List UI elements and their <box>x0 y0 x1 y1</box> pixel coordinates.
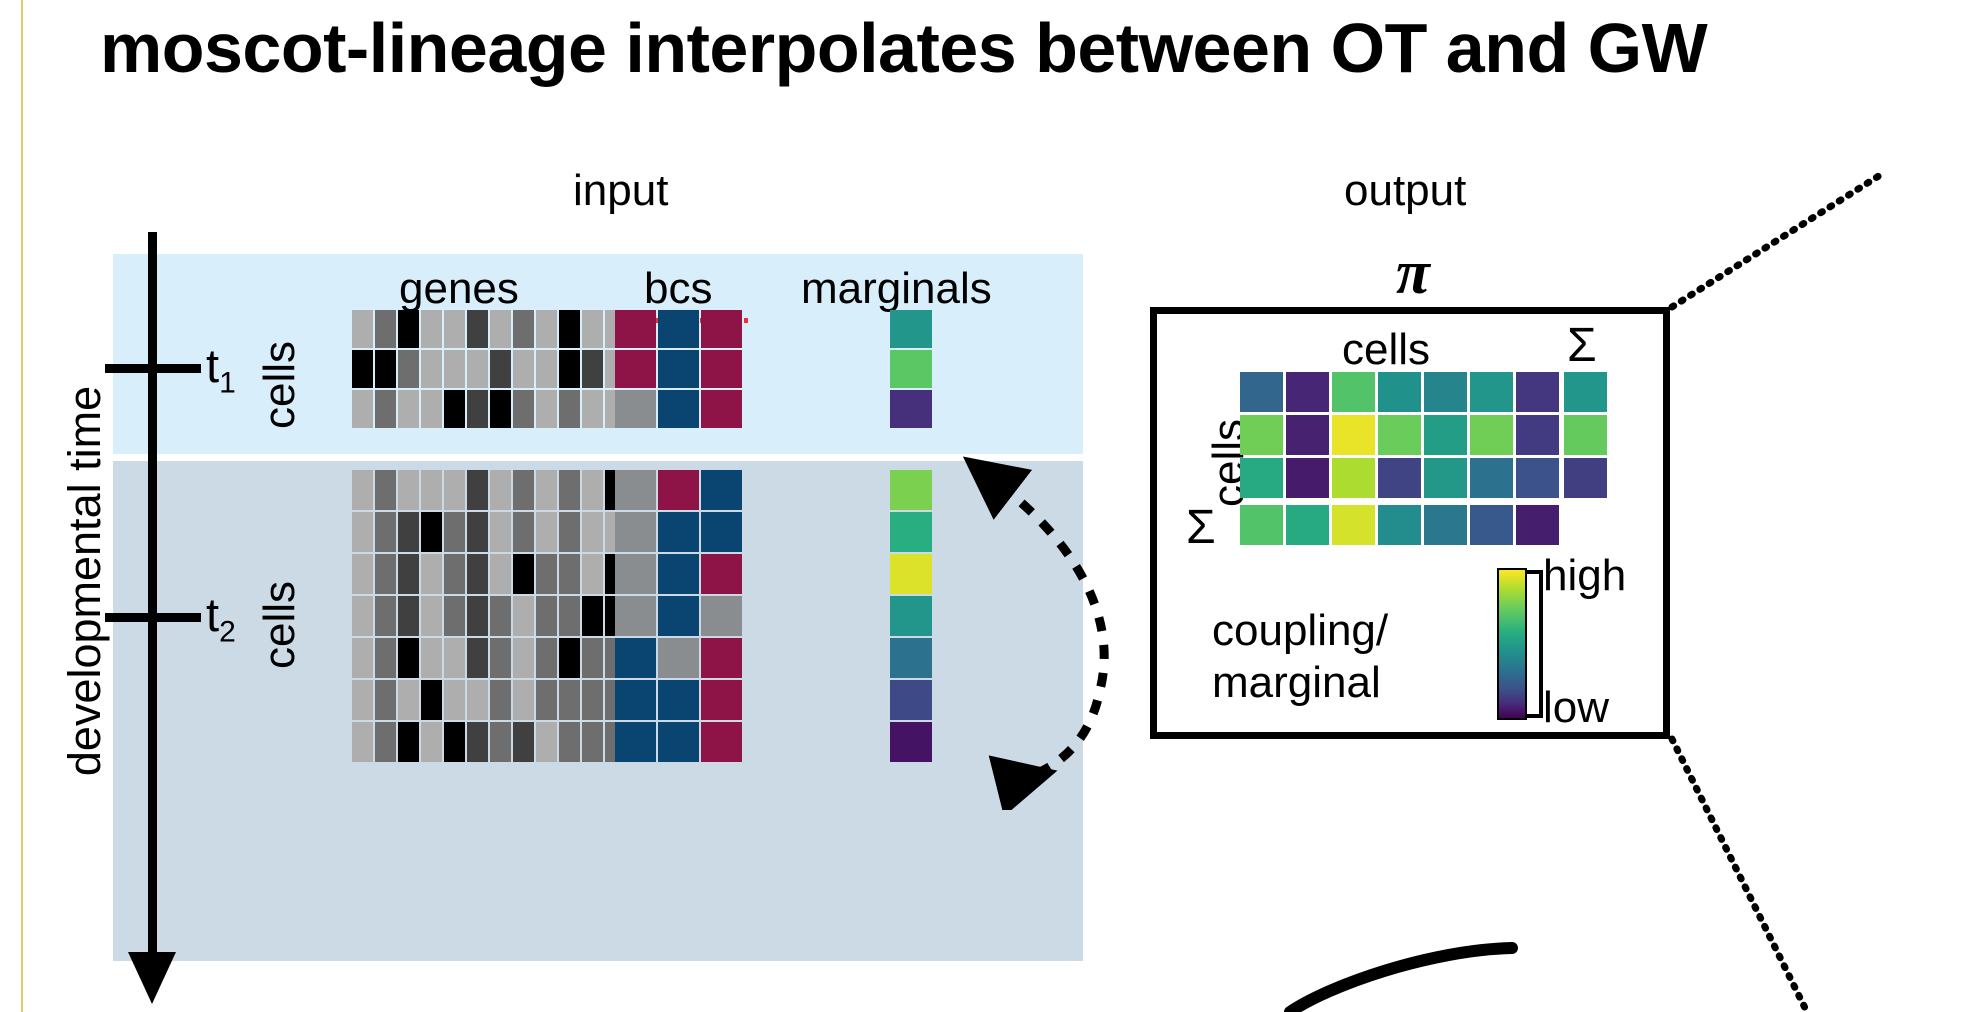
heatmap-cell <box>352 310 373 348</box>
heatmap-cell <box>1240 458 1283 498</box>
heatmap-cell <box>559 554 580 594</box>
heatmap-cell <box>615 722 656 762</box>
column-header-genes: genes <box>399 264 519 314</box>
heatmap-cell <box>890 596 932 636</box>
heatmap-cell <box>1424 372 1467 412</box>
heatmap-pi-row-sum <box>1240 505 1559 545</box>
heatmap-cell <box>375 390 396 428</box>
heatmap-cell <box>890 512 932 552</box>
heatmap-cell <box>398 554 419 594</box>
heatmap-cell <box>658 596 699 636</box>
colorbar-label-high: high <box>1543 551 1626 601</box>
heatmap-cell <box>398 680 419 720</box>
heatmap-cell <box>490 512 511 552</box>
heatmap-cell <box>1332 458 1375 498</box>
heatmap-cell <box>890 310 932 348</box>
axis-tick-label-t1: t1 <box>206 338 236 400</box>
heatmap-cell <box>1564 415 1607 455</box>
heatmap-cell <box>467 512 488 552</box>
heatmap-cell <box>490 554 511 594</box>
heatmap-cell <box>615 596 656 636</box>
heatmap-cell <box>1378 415 1421 455</box>
dotted-line-top-right <box>1672 172 1885 307</box>
heatmap-cell <box>582 554 603 594</box>
heatmap-cell <box>536 390 557 428</box>
heatmap-cell <box>890 554 932 594</box>
heatmap-cell <box>1470 458 1513 498</box>
heatmap-cell <box>890 350 932 388</box>
heatmap-cell <box>582 470 603 510</box>
heatmap-cell <box>467 350 488 388</box>
heatmap-cell <box>559 638 580 678</box>
heatmap-cell <box>375 638 396 678</box>
heatmap-cell <box>559 596 580 636</box>
heatmap-cell <box>615 554 656 594</box>
heatmap-cell <box>1378 372 1421 412</box>
heatmap-cell <box>513 680 534 720</box>
heatmap-cell <box>1286 458 1329 498</box>
heatmap-cell <box>398 310 419 348</box>
heatmap-cell <box>1378 505 1421 545</box>
heatmap-cell <box>421 722 442 762</box>
heatmap-cell <box>1424 505 1467 545</box>
heatmap-cell <box>1332 505 1375 545</box>
heatmap-cell <box>890 638 932 678</box>
column-header-marginals: marginals <box>801 264 992 314</box>
pi-column-header-sigma: Σ <box>1567 318 1597 373</box>
heatmap-cell <box>490 638 511 678</box>
heatmap-bcs-t2 <box>615 470 742 762</box>
heatmap-cell <box>1286 372 1329 412</box>
heatmap-cell <box>615 390 656 428</box>
heatmap-cell <box>1240 415 1283 455</box>
heatmap-cell <box>658 310 699 348</box>
heatmap-cell <box>615 470 656 510</box>
heatmap-cell <box>890 470 932 510</box>
viridis-colorbar <box>1497 568 1527 720</box>
heatmap-cell <box>398 350 419 388</box>
heatmap-pi-coupling <box>1240 372 1559 498</box>
figure-canvas: moscot-lineage interpolates between OT a… <box>0 0 1969 1012</box>
heatmap-cell <box>536 350 557 388</box>
bottom-curve <box>1290 948 1512 1012</box>
legend-line-1: coupling/ <box>1212 606 1388 655</box>
heatmap-pi-column-sum <box>1564 372 1607 498</box>
heatmap-cell <box>398 722 419 762</box>
heatmap-cell <box>559 390 580 428</box>
heatmap-cell <box>444 512 465 552</box>
heatmap-cell <box>421 554 442 594</box>
heatmap-cell <box>513 350 534 388</box>
heatmap-cell <box>513 470 534 510</box>
heatmap-cell <box>444 310 465 348</box>
time-axis-arrowhead-icon <box>128 952 176 1004</box>
heatmap-cell <box>352 722 373 762</box>
heatmap-cell <box>467 390 488 428</box>
heatmap-cell <box>701 390 742 428</box>
heatmap-cell <box>615 310 656 348</box>
heatmap-genes-t1 <box>352 310 626 428</box>
axis-tick-t1 <box>105 364 201 373</box>
legend-line-2: marginal <box>1212 658 1381 707</box>
heatmap-cell <box>1516 505 1559 545</box>
developmental-time-axis-label: developmental time <box>59 351 111 811</box>
heatmap-cell <box>701 638 742 678</box>
heatmap-cell <box>352 350 373 388</box>
heatmap-cell <box>615 638 656 678</box>
heatmap-cell <box>352 470 373 510</box>
heatmap-cell <box>352 512 373 552</box>
heatmap-cell <box>490 470 511 510</box>
heatmap-cell <box>701 680 742 720</box>
heatmap-cell <box>467 596 488 636</box>
heatmap-cell <box>398 512 419 552</box>
heatmap-cell <box>701 554 742 594</box>
heatmap-cell <box>444 390 465 428</box>
heatmap-marginals-t2 <box>890 470 932 762</box>
page-edge-rule <box>21 0 23 1012</box>
colorbar-label-low: low <box>1543 683 1609 733</box>
heatmap-cell <box>1516 458 1559 498</box>
heatmap-cell <box>421 596 442 636</box>
heatmap-cell <box>536 680 557 720</box>
heatmap-cell <box>513 722 534 762</box>
heatmap-cell <box>890 390 932 428</box>
heatmap-cell <box>398 638 419 678</box>
heatmap-cell <box>352 638 373 678</box>
heatmap-cell <box>559 310 580 348</box>
heatmap-cell <box>398 390 419 428</box>
axis-tick-t2 <box>105 613 201 622</box>
heatmap-cell <box>658 350 699 388</box>
heatmap-cell <box>1564 372 1607 412</box>
heatmap-cell <box>421 470 442 510</box>
heatmap-cell <box>701 512 742 552</box>
heatmap-cell <box>513 390 534 428</box>
heatmap-cell <box>421 638 442 678</box>
heatmap-cell <box>658 470 699 510</box>
heatmap-cell <box>513 512 534 552</box>
heatmap-cell <box>615 350 656 388</box>
row-label-cells-t2: cells <box>255 581 305 669</box>
output-section-label: output <box>1344 166 1466 216</box>
heatmap-cell <box>375 512 396 552</box>
bidirectional-dashed-arrow-icon <box>960 430 1150 810</box>
heatmap-cell <box>582 638 603 678</box>
pi-symbol: π <box>1396 238 1430 309</box>
heatmap-cell <box>490 596 511 636</box>
heatmap-cell <box>352 680 373 720</box>
heatmap-cell <box>444 350 465 388</box>
legend-caption: coupling/ marginal <box>1212 605 1388 709</box>
heatmap-bcs-t1 <box>615 310 742 428</box>
heatmap-cell <box>467 638 488 678</box>
heatmap-cell <box>513 554 534 594</box>
heatmap-cell <box>536 310 557 348</box>
heatmap-cell <box>467 722 488 762</box>
heatmap-cell <box>559 350 580 388</box>
heatmap-cell <box>1470 415 1513 455</box>
heatmap-cell <box>559 722 580 762</box>
pi-row-header-sigma: Σ <box>1186 500 1216 555</box>
heatmap-cell <box>582 722 603 762</box>
heatmap-cell <box>352 390 373 428</box>
heatmap-cell <box>701 350 742 388</box>
heatmap-cell <box>467 554 488 594</box>
heatmap-cell <box>1286 415 1329 455</box>
heatmap-cell <box>490 350 511 388</box>
heatmap-cell <box>1516 372 1559 412</box>
heatmap-cell <box>1424 415 1467 455</box>
heatmap-cell <box>375 596 396 636</box>
heatmap-cell <box>467 310 488 348</box>
heatmap-cell <box>421 310 442 348</box>
input-section-label: input <box>573 166 668 216</box>
heatmap-cell <box>536 596 557 636</box>
heatmap-cell <box>421 512 442 552</box>
heatmap-cell <box>615 512 656 552</box>
heatmap-cell <box>658 680 699 720</box>
heatmap-cell <box>375 470 396 510</box>
column-header-bcs: bcs <box>644 264 712 314</box>
heatmap-cell <box>536 554 557 594</box>
time-axis-line <box>148 232 157 962</box>
heatmap-cell <box>615 680 656 720</box>
heatmap-cell <box>444 554 465 594</box>
heatmap-cell <box>352 554 373 594</box>
heatmap-cell <box>658 390 699 428</box>
heatmap-cell <box>421 390 442 428</box>
axis-tick-label-t2: t2 <box>206 587 236 649</box>
heatmap-cell <box>421 680 442 720</box>
heatmap-cell <box>582 512 603 552</box>
heatmap-cell <box>536 512 557 552</box>
heatmap-cell <box>890 680 932 720</box>
heatmap-cell <box>658 722 699 762</box>
heatmap-cell <box>467 680 488 720</box>
heatmap-cell <box>536 722 557 762</box>
heatmap-cell <box>375 722 396 762</box>
heatmap-cell <box>701 596 742 636</box>
heatmap-cell <box>1332 372 1375 412</box>
heatmap-cell <box>582 350 603 388</box>
heatmap-cell <box>701 470 742 510</box>
heatmap-cell <box>1470 505 1513 545</box>
heatmap-cell <box>1378 458 1421 498</box>
heatmap-cell <box>352 596 373 636</box>
heatmap-cell <box>1470 372 1513 412</box>
heatmap-cell <box>582 596 603 636</box>
heatmap-cell <box>375 554 396 594</box>
heatmap-cell <box>375 310 396 348</box>
heatmap-cell <box>1564 458 1607 498</box>
heatmap-cell <box>490 680 511 720</box>
heatmap-cell <box>444 680 465 720</box>
heatmap-cell <box>559 512 580 552</box>
heatmap-cell <box>701 722 742 762</box>
heatmap-cell <box>513 310 534 348</box>
heatmap-cell <box>658 638 699 678</box>
heatmap-cell <box>536 470 557 510</box>
heatmap-cell <box>490 390 511 428</box>
heatmap-cell <box>890 722 932 762</box>
heatmap-cell <box>398 596 419 636</box>
heatmap-cell <box>1240 372 1283 412</box>
heatmap-cell <box>444 596 465 636</box>
heatmap-cell <box>513 638 534 678</box>
heatmap-cell <box>582 310 603 348</box>
heatmap-cell <box>582 390 603 428</box>
heatmap-cell <box>1240 505 1283 545</box>
heatmap-cell <box>490 310 511 348</box>
heatmap-cell <box>398 470 419 510</box>
figure-title: moscot-lineage interpolates between OT a… <box>100 4 1960 92</box>
heatmap-cell <box>658 554 699 594</box>
heatmap-cell <box>421 350 442 388</box>
heatmap-cell <box>1516 415 1559 455</box>
heatmap-cell <box>658 512 699 552</box>
dotted-line-bottom-right <box>1672 739 1807 1012</box>
heatmap-cell <box>490 722 511 762</box>
heatmap-genes-t2 <box>352 470 626 762</box>
heatmap-cell <box>701 310 742 348</box>
heatmap-cell <box>582 680 603 720</box>
row-label-cells-t1: cells <box>255 341 305 429</box>
heatmap-cell <box>1332 415 1375 455</box>
heatmap-cell <box>559 680 580 720</box>
heatmap-cell <box>467 470 488 510</box>
heatmap-cell <box>375 350 396 388</box>
heatmap-cell <box>559 470 580 510</box>
heatmap-cell <box>375 680 396 720</box>
heatmap-cell <box>1286 505 1329 545</box>
heatmap-cell <box>1424 458 1467 498</box>
heatmap-cell <box>444 470 465 510</box>
heatmap-cell <box>444 722 465 762</box>
heatmap-cell <box>513 596 534 636</box>
pi-column-header-cells: cells <box>1342 325 1430 375</box>
heatmap-cell <box>536 638 557 678</box>
heatmap-cell <box>444 638 465 678</box>
heatmap-marginals-t1 <box>890 310 932 428</box>
